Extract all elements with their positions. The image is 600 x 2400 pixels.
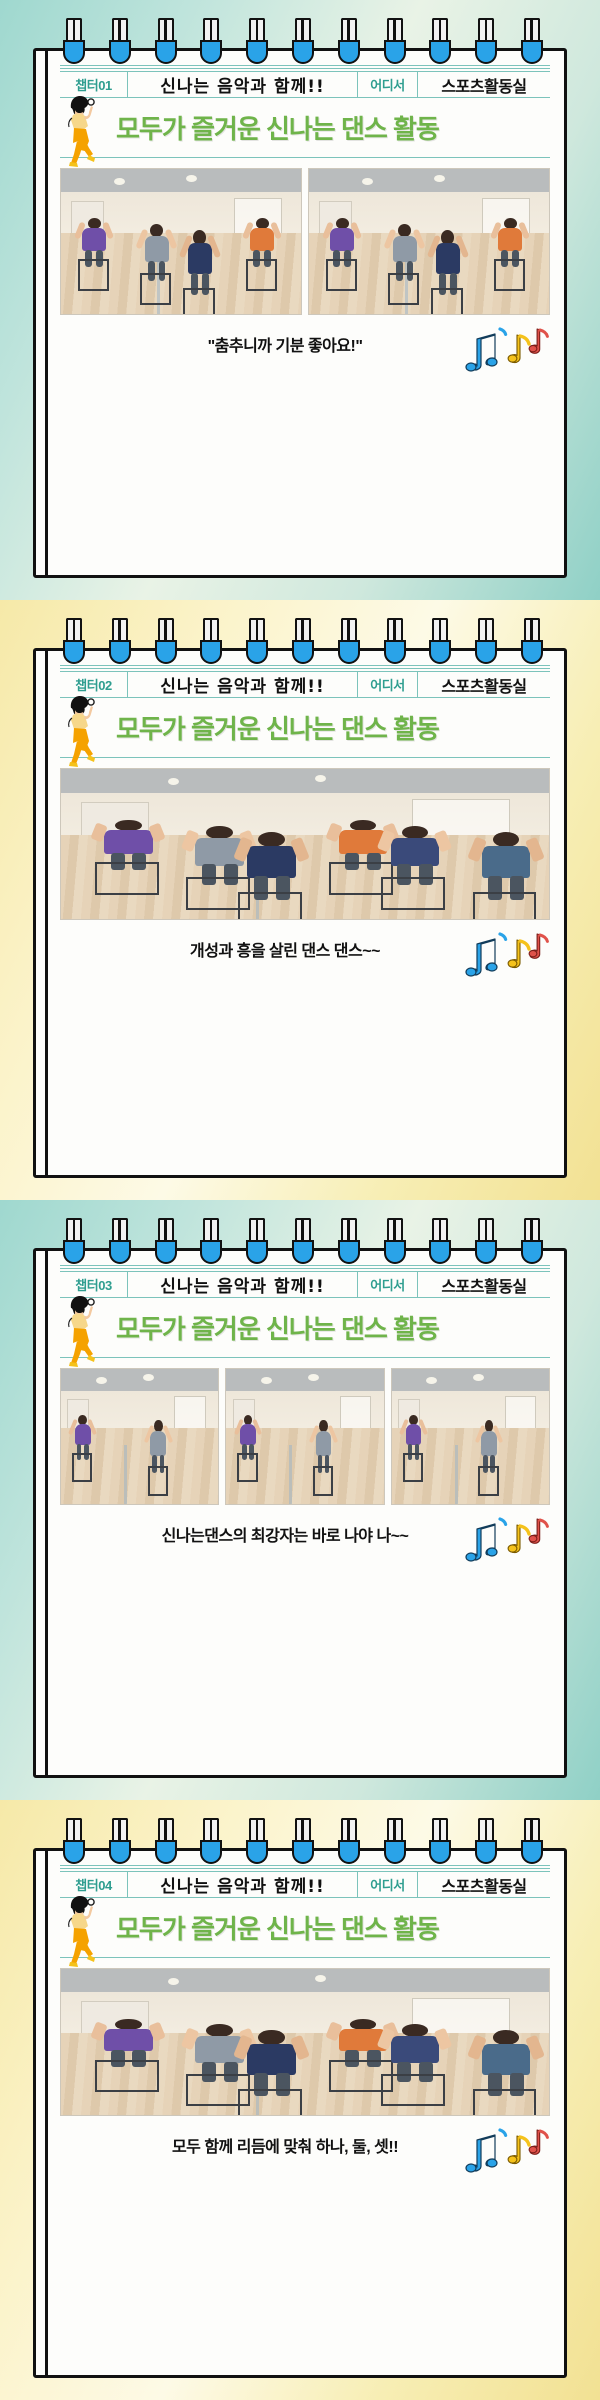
photo-scene [392, 1369, 549, 1504]
spiral-ring-icon [200, 18, 222, 70]
photo-strip [60, 1368, 550, 1505]
notebook: 챕터04신나는 음악과 함께!!어디서스포츠활동실모두가 즐거운 신나는 댄스 … [33, 1818, 567, 2378]
music-notes-icon [454, 924, 550, 982]
dancing-woman-icon [58, 1294, 110, 1370]
spiral-ring-icon [521, 18, 543, 70]
spiral-ring-icon [200, 1218, 222, 1270]
place-name: 스포츠활동실 [418, 1872, 550, 1897]
place-name: 스포츠활동실 [418, 72, 550, 97]
card-header: 챕터04신나는 음악과 함께!!어디서스포츠활동실 [60, 1871, 550, 1898]
theme-text: 신나는 음악과 함께!! [128, 72, 358, 97]
activity-caption: "춤추니까 기분 좋아요!" [208, 332, 403, 356]
spiral-ring-icon [292, 1218, 314, 1270]
spiral-binding [63, 18, 543, 70]
spiral-ring-icon [155, 618, 177, 670]
notebook-page: 챕터04신나는 음악과 함께!!어디서스포츠활동실모두가 즐거운 신나는 댄스 … [33, 1848, 567, 2378]
photo-strip [60, 768, 550, 920]
caption-row: "춤추니까 기분 좋아요!" [60, 315, 550, 373]
spiral-ring-icon [63, 1218, 85, 1270]
where-label: 어디서 [358, 672, 418, 697]
where-label: 어디서 [358, 1872, 418, 1897]
music-notes-icon [454, 319, 550, 377]
spiral-ring-icon [384, 18, 406, 70]
spiral-ring-icon [109, 1218, 131, 1270]
notebook-page: 챕터01신나는 음악과 함께!!어디서스포츠활동실모두가 즐거운 신나는 댄스 … [33, 48, 567, 578]
activity-photo [225, 1368, 384, 1505]
music-notes-icon [454, 1509, 550, 1567]
spiral-binding [63, 1818, 543, 1870]
place-name: 스포츠활동실 [418, 672, 550, 697]
dancing-woman-icon [58, 694, 110, 770]
caption-row: 개성과 흥을 살린 댄스 댄스~~ [60, 920, 550, 978]
spiral-ring-icon [521, 1218, 543, 1270]
spiral-ring-icon [521, 1818, 543, 1870]
spiral-ring-icon [155, 1818, 177, 1870]
activity-photo [60, 168, 302, 315]
spiral-ring-icon [521, 618, 543, 670]
photo-scene [309, 169, 549, 314]
page-title: 모두가 즐거운 신나는 댄스 활동 [116, 109, 439, 146]
spiral-ring-icon [475, 1818, 497, 1870]
spiral-ring-icon [246, 18, 268, 70]
report-card: 챕터03신나는 음악과 함께!!어디서스포츠활동실모두가 즐거운 신나는 댄스 … [0, 1200, 600, 1800]
theme-text: 신나는 음악과 함께!! [128, 672, 358, 697]
spiral-ring-icon [429, 1218, 451, 1270]
spiral-binding [63, 1218, 543, 1270]
spiral-ring-icon [200, 618, 222, 670]
notebook: 챕터01신나는 음악과 함께!!어디서스포츠활동실모두가 즐거운 신나는 댄스 … [33, 18, 567, 578]
caption-row: 모두 함께 리듬에 맞춰 하나, 둘, 셋!! [60, 2116, 550, 2174]
spiral-ring-icon [338, 1818, 360, 1870]
title-band: 모두가 즐거운 신나는 댄스 활동 [60, 1298, 550, 1358]
activity-photo [60, 1968, 550, 2116]
spiral-ring-icon [292, 18, 314, 70]
music-notes-icon [454, 2120, 550, 2178]
theme-text: 신나는 음악과 함께!! [128, 1272, 358, 1297]
activity-photo [391, 1368, 550, 1505]
dancing-woman-icon [58, 1894, 110, 1970]
spiral-ring-icon [109, 618, 131, 670]
spiral-ring-icon [475, 1218, 497, 1270]
spiral-ring-icon [429, 618, 451, 670]
title-band: 모두가 즐거운 신나는 댄스 활동 [60, 1898, 550, 1958]
where-label: 어디서 [358, 1272, 418, 1297]
report-card-stack: 챕터01신나는 음악과 함께!!어디서스포츠활동실모두가 즐거운 신나는 댄스 … [0, 0, 600, 2400]
spiral-ring-icon [292, 1818, 314, 1870]
spiral-ring-icon [338, 18, 360, 70]
notebook-page: 챕터02신나는 음악과 함께!!어디서스포츠활동실모두가 즐거운 신나는 댄스 … [33, 648, 567, 1178]
spiral-ring-icon [246, 1218, 268, 1270]
spiral-ring-icon [63, 618, 85, 670]
page-title: 모두가 즐거운 신나는 댄스 활동 [116, 1909, 439, 1946]
place-name: 스포츠활동실 [418, 1272, 550, 1297]
photo-strip [60, 168, 550, 315]
activity-caption: 개성과 흥을 살린 댄스 댄스~~ [190, 937, 420, 961]
activity-photo [60, 768, 550, 920]
page-title: 모두가 즐거운 신나는 댄스 활동 [116, 1309, 439, 1346]
photo-scene [61, 1969, 549, 2115]
spiral-ring-icon [155, 1218, 177, 1270]
photo-scene [61, 169, 301, 314]
spiral-ring-icon [63, 18, 85, 70]
spiral-ring-icon [384, 1818, 406, 1870]
photo-scene [61, 769, 549, 919]
spiral-ring-icon [429, 1818, 451, 1870]
spiral-ring-icon [200, 1818, 222, 1870]
spiral-ring-icon [109, 1818, 131, 1870]
activity-photo [308, 168, 550, 315]
report-card: 챕터02신나는 음악과 함께!!어디서스포츠활동실모두가 즐거운 신나는 댄스 … [0, 600, 600, 1200]
photo-scene [61, 1369, 218, 1504]
spiral-ring-icon [63, 1818, 85, 1870]
report-card: 챕터04신나는 음악과 함께!!어디서스포츠활동실모두가 즐거운 신나는 댄스 … [0, 1800, 600, 2400]
spiral-ring-icon [429, 18, 451, 70]
card-header: 챕터02신나는 음악과 함께!!어디서스포츠활동실 [60, 671, 550, 698]
spiral-ring-icon [338, 618, 360, 670]
spiral-ring-icon [475, 18, 497, 70]
caption-row: 신나는댄스의 최강자는 바로 나야 나~~ [60, 1505, 550, 1563]
notebook-page: 챕터03신나는 음악과 함께!!어디서스포츠활동실모두가 즐거운 신나는 댄스 … [33, 1248, 567, 1778]
photo-scene [226, 1369, 383, 1504]
notebook: 챕터03신나는 음악과 함께!!어디서스포츠활동실모두가 즐거운 신나는 댄스 … [33, 1218, 567, 1778]
activity-caption: 신나는댄스의 최강자는 바로 나야 나~~ [162, 1522, 449, 1546]
spiral-ring-icon [384, 618, 406, 670]
spiral-ring-icon [246, 618, 268, 670]
spiral-ring-icon [292, 618, 314, 670]
spiral-ring-icon [155, 18, 177, 70]
photo-strip [60, 1968, 550, 2116]
card-header: 챕터03신나는 음악과 함께!!어디서스포츠활동실 [60, 1271, 550, 1298]
spiral-ring-icon [475, 618, 497, 670]
title-band: 모두가 즐거운 신나는 댄스 활동 [60, 98, 550, 158]
notebook: 챕터02신나는 음악과 함께!!어디서스포츠활동실모두가 즐거운 신나는 댄스 … [33, 618, 567, 1178]
where-label: 어디서 [358, 72, 418, 97]
theme-text: 신나는 음악과 함께!! [128, 1872, 358, 1897]
spiral-ring-icon [384, 1218, 406, 1270]
page-title: 모두가 즐거운 신나는 댄스 활동 [116, 709, 439, 746]
title-band: 모두가 즐거운 신나는 댄스 활동 [60, 698, 550, 758]
card-header: 챕터01신나는 음악과 함께!!어디서스포츠활동실 [60, 71, 550, 98]
spiral-binding [63, 618, 543, 670]
spiral-ring-icon [246, 1818, 268, 1870]
spiral-ring-icon [338, 1218, 360, 1270]
activity-photo [60, 1368, 219, 1505]
report-card: 챕터01신나는 음악과 함께!!어디서스포츠활동실모두가 즐거운 신나는 댄스 … [0, 0, 600, 600]
spiral-ring-icon [109, 18, 131, 70]
dancing-woman-icon [58, 94, 110, 170]
activity-caption: 모두 함께 리듬에 맞춰 하나, 둘, 셋!! [172, 2133, 438, 2157]
